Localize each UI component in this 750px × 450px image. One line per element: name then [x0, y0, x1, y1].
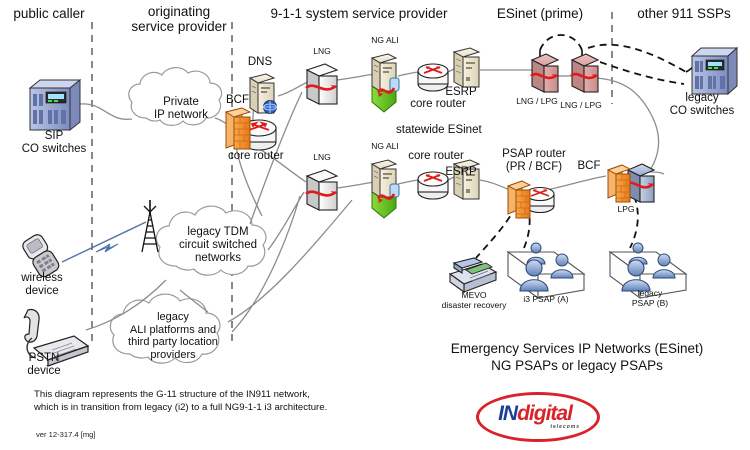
label-wireless-line2: device: [4, 285, 80, 298]
icon-lng-lpg-a: [531, 54, 558, 92]
header-public-caller: public caller: [6, 6, 92, 21]
icon-ng-ali-bottom: [372, 160, 399, 218]
label-sip-line1: SIP: [2, 130, 106, 143]
label-esrp-bottom: ESRP: [438, 166, 484, 179]
label-wireless-device: wireless device: [4, 272, 80, 297]
label-legacy-co-line2: CO switches: [656, 105, 748, 118]
label-tdm-line1: legacy TDM: [166, 226, 270, 239]
link-lnglpg-b-out: [596, 78, 659, 170]
black-link-group: [540, 50, 696, 72]
link-bcf-lpg-to-esinet-curve: [650, 172, 664, 174]
icon-esrp-top: [454, 48, 479, 87]
diagram-note-line1: This diagram represents the G-11 structu…: [34, 389, 414, 402]
label-bcf: BCF: [226, 94, 260, 107]
icon-bcf-lpg: [608, 164, 654, 202]
link-lng-top-to-ngali-top: [337, 74, 374, 80]
label-legacy-co-line1: legacy: [656, 92, 748, 105]
label-psap-router-line2: (PR / BCF): [482, 161, 586, 174]
link-lng-bottom-to-ngali-bottom: [337, 182, 374, 188]
label-i3-psap-a: i3 PSAP (A): [504, 294, 588, 304]
diagram-note-line2: which is in transition from legacy (i2) …: [34, 402, 414, 415]
diagram-vector-layer: [0, 0, 750, 450]
icon-bcf-core-router: [226, 108, 276, 150]
label-wireless-line1: wireless: [4, 272, 80, 285]
label-ali-line2: ALI platforms and: [112, 324, 234, 337]
icon-mevo: [450, 258, 496, 292]
link-ngali-bottom-to-router-bottom: [398, 180, 420, 184]
indigital-logo: INdigital telecoms: [476, 392, 594, 436]
label-ali-line4: providers: [112, 349, 234, 362]
radio-tower-icon: [142, 200, 158, 252]
header-911-system-service-provider: 9-1-1 system service provider: [246, 6, 472, 21]
label-sip-line2: CO switches: [2, 143, 106, 156]
label-dns: DNS: [240, 56, 280, 69]
label-lng-bottom: LNG: [302, 152, 342, 162]
label-esrp-top: ESRP: [438, 86, 484, 99]
label-ali-line1: legacy: [112, 311, 234, 324]
icon-psap-router: [508, 181, 554, 218]
icon-sip-co-switches: [30, 80, 80, 130]
diagram-note: This diagram represents the G-11 structu…: [34, 389, 414, 414]
label-lpg: LPG: [606, 204, 646, 214]
link-esrp-bottom-to-psap-router: [480, 180, 510, 190]
label-private-line1: Private: [140, 96, 222, 109]
label-psap-router-line1: PSAP router: [482, 148, 586, 161]
dashed-lnglpg-b-to-legacy-co: [588, 45, 686, 72]
label-private-line2: IP network: [140, 109, 222, 122]
label-core-router-bottom: core router: [400, 150, 472, 163]
label-statewide-esinet: statewide ESinet: [396, 124, 516, 137]
link-dns-to-lng-top: [278, 82, 308, 96]
icon-lng-lpg-b: [571, 54, 598, 92]
label-pstn-device: PSTN device: [6, 352, 82, 377]
label-lng-top: LNG: [302, 46, 342, 56]
wireless-beam: [62, 222, 146, 262]
label-tdm-line3: networks: [166, 252, 270, 265]
label-psap-router: PSAP router (PR / BCF): [482, 148, 586, 173]
header-other-911-ssps: other 911 SSPs: [622, 6, 746, 21]
icon-ng-ali-top: [372, 54, 399, 112]
network-diagram-canvas: public caller originating service provid…: [0, 0, 750, 450]
label-ng-ali-top: NG ALI: [362, 35, 408, 45]
label-tdm-line2: circuit switched: [166, 239, 270, 252]
icon-lng-bottom: [306, 170, 337, 210]
wireless-link-group: [62, 200, 158, 262]
esinet-caption-line1: Emergency Services IP Networks (ESinet): [412, 340, 742, 357]
icon-lng-top: [306, 64, 337, 104]
header-esinet-prime: ESinet (prime): [480, 6, 600, 21]
label-private-ip-network: Private IP network: [140, 96, 222, 122]
version-string: ver 12-317.4 [mg]: [36, 430, 96, 439]
label-bcf-right: BCF: [572, 160, 606, 173]
label-pstn-line1: PSTN: [6, 352, 82, 365]
dashed-psap-router-to-mevo: [476, 206, 516, 258]
label-lng-lpg-b: LNG / LPG: [550, 100, 612, 110]
label-legacy-psap-line2: PSAP (B): [608, 298, 692, 308]
label-core-router-bcf: core router: [228, 150, 308, 163]
logo-in: IN: [498, 402, 517, 426]
header-originating-service-provider: originating service provider: [118, 4, 240, 34]
label-legacy-psap-b: legacy PSAP (B): [608, 288, 692, 308]
label-legacy-psap-line1: legacy: [608, 288, 692, 298]
logo-digital: digital: [517, 402, 572, 426]
header-originating-line2: service provider: [118, 19, 240, 34]
link-ngali-top-to-router-top: [398, 72, 420, 76]
label-legacy-tdm-cloud: legacy TDM circuit switched networks: [166, 226, 270, 265]
dashed-lnglpg-a-to-b-arc: [540, 35, 582, 50]
link-sip-to-private-cloud: [80, 104, 132, 119]
esinet-caption: Emergency Services IP Networks (ESinet) …: [412, 340, 742, 374]
label-legacy-ali-cloud: legacy ALI platforms and third party loc…: [112, 311, 234, 361]
logo-tagline: telecoms: [550, 424, 580, 430]
label-core-router-top: core router: [402, 98, 474, 111]
lightning-bolt-icon: [96, 244, 118, 252]
label-ali-line3: third party location: [112, 336, 234, 349]
header-originating-line1: originating: [118, 4, 240, 19]
label-pstn-line2: device: [6, 365, 82, 378]
esinet-caption-line2: NG PSAPs or legacy PSAPs: [412, 357, 742, 374]
label-legacy-co-switches: legacy CO switches: [656, 92, 748, 117]
label-sip-co-switches: SIP CO switches: [2, 130, 106, 155]
link-psap-router-to-bcf-lpg: [546, 176, 606, 190]
icon-legacy-co-switches: [692, 48, 737, 94]
